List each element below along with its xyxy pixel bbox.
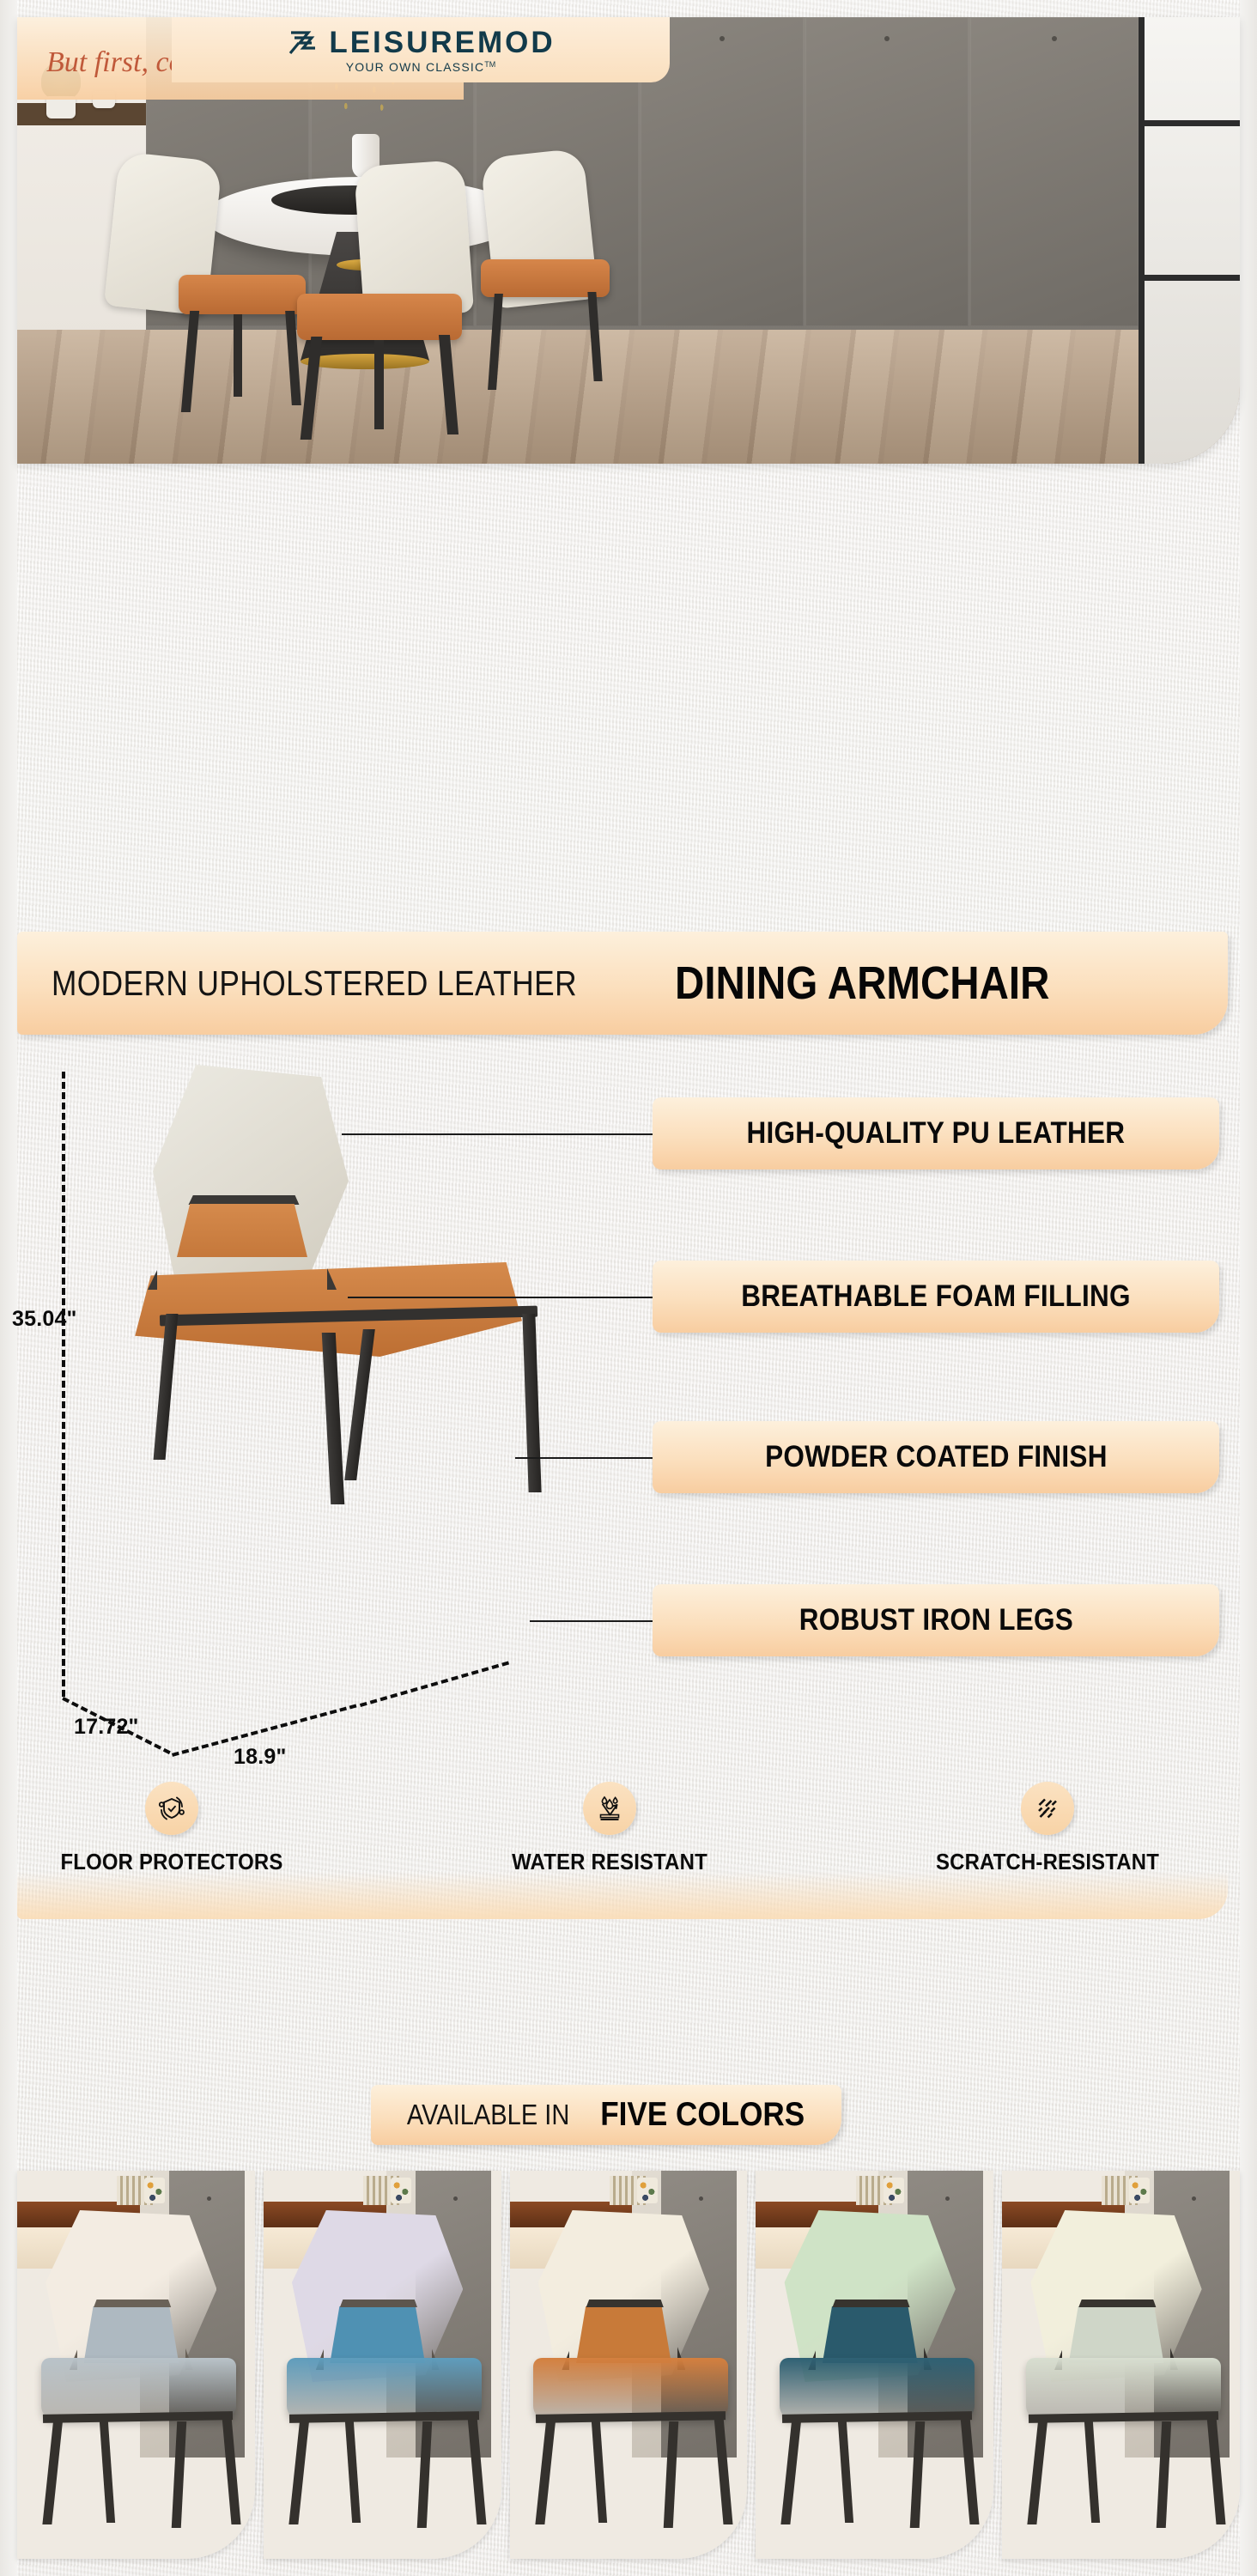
wall-panel [805, 17, 969, 326]
color-swatch[interactable] [1002, 2171, 1240, 2559]
product-chair-render [127, 1065, 591, 1735]
benefit-water-resistant: WATER RESISTANT [481, 1782, 738, 1875]
benefit-label: WATER RESISTANT [491, 1849, 728, 1875]
wood-ledge [17, 103, 146, 125]
chair-leg [522, 1314, 541, 1492]
left-margin [0, 0, 17, 2576]
feature-leader-line [530, 1620, 654, 1622]
benefit-label: FLOOR PROTECTORS [53, 1849, 290, 1875]
right-margin [1240, 0, 1257, 2576]
colors-banner-light: AVAILABLE IN [407, 2099, 569, 2131]
benefit-strip: FLOOR PROTECTORS WATER RESISTANT [17, 1782, 1228, 1911]
width-dimension-label: 18.9" [234, 1745, 287, 1770]
benefit-icon-badge [1021, 1782, 1074, 1835]
benefit-label: SCRATCH-RESISTANT [929, 1849, 1166, 1875]
swatch-chair-seat [533, 2358, 728, 2420]
wood-floor [17, 330, 1240, 464]
color-swatch-gallery [17, 2171, 1240, 2559]
benefit-icon-badge [145, 1782, 198, 1835]
trademark-symbol: TM [484, 60, 495, 69]
depth-dimension-label: 17.72" [74, 1715, 139, 1740]
swatch-chair-seat [780, 2358, 975, 2420]
feature-label: HIGH-QUALITY PU LEATHER [747, 1116, 1126, 1151]
feature-callout-2: POWDER COATED FINISH [653, 1421, 1219, 1493]
feature-leader-line [515, 1457, 654, 1459]
wall-panel [970, 17, 1139, 326]
feature-label: BREATHABLE FOAM FILLING [741, 1279, 1131, 1314]
product-title-banner: MODERN UPHOLSTERED LEATHER DINING ARMCHA… [17, 932, 1228, 1035]
feature-label: ROBUST IRON LEGS [799, 1603, 1072, 1637]
chair-logo-icon [286, 29, 320, 57]
height-dimension-label: 35.04" [12, 1307, 77, 1332]
feature-leader-line [342, 1133, 654, 1135]
benefit-icon-badge [583, 1782, 636, 1835]
window-mullion [1145, 120, 1240, 126]
water-droplet-repel-icon [593, 1792, 626, 1825]
color-swatch[interactable] [756, 2171, 993, 2559]
scratch-hatch-lines-icon [1031, 1792, 1064, 1825]
window-mullion [1145, 275, 1240, 281]
swatch-chair-seat [41, 2358, 236, 2420]
swatch-chair-seat [287, 2358, 482, 2420]
available-colors-banner: AVAILABLE IN FIVE COLORS [371, 2085, 841, 2145]
brand-logo-card: LEISUREMOD YOUR OWN CLASSIC TM [172, 17, 670, 82]
shield-check-floor-protector-icon [155, 1792, 188, 1825]
benefit-floor-protectors: FLOOR PROTECTORS [43, 1782, 301, 1875]
brand-name: LEISUREMOD [329, 26, 555, 60]
title-bold: DINING ARMCHAIR [675, 957, 1049, 1010]
hero-lifestyle-image: But first, coffee! LEISUREMOD YOUR OWN C… [17, 17, 1240, 464]
chair-leg [322, 1333, 344, 1504]
color-swatch[interactable] [510, 2171, 748, 2559]
feature-callout-3: ROBUST IRON LEGS [653, 1584, 1219, 1656]
title-light: MODERN UPHOLSTERED LEATHER [52, 963, 577, 1004]
feature-callout-1: BREATHABLE FOAM FILLING [653, 1261, 1219, 1333]
colors-banner-bold: FIVE COLORS [601, 2096, 805, 2134]
feature-label: POWDER COATED FINISH [765, 1440, 1108, 1474]
feature-callout-0: HIGH-QUALITY PU LEATHER [653, 1097, 1219, 1170]
brand-tagline: YOUR OWN CLASSIC [346, 60, 485, 74]
chair-inner-back-panel [177, 1204, 307, 1257]
feature-leader-line [348, 1297, 654, 1298]
benefit-scratch-resistant: SCRATCH-RESISTANT [919, 1782, 1176, 1875]
window [1139, 17, 1240, 464]
color-swatch[interactable] [264, 2171, 501, 2559]
height-dimension-line [62, 1072, 65, 1697]
color-swatch[interactable] [17, 2171, 255, 2559]
swatch-chair-seat [1026, 2358, 1221, 2420]
